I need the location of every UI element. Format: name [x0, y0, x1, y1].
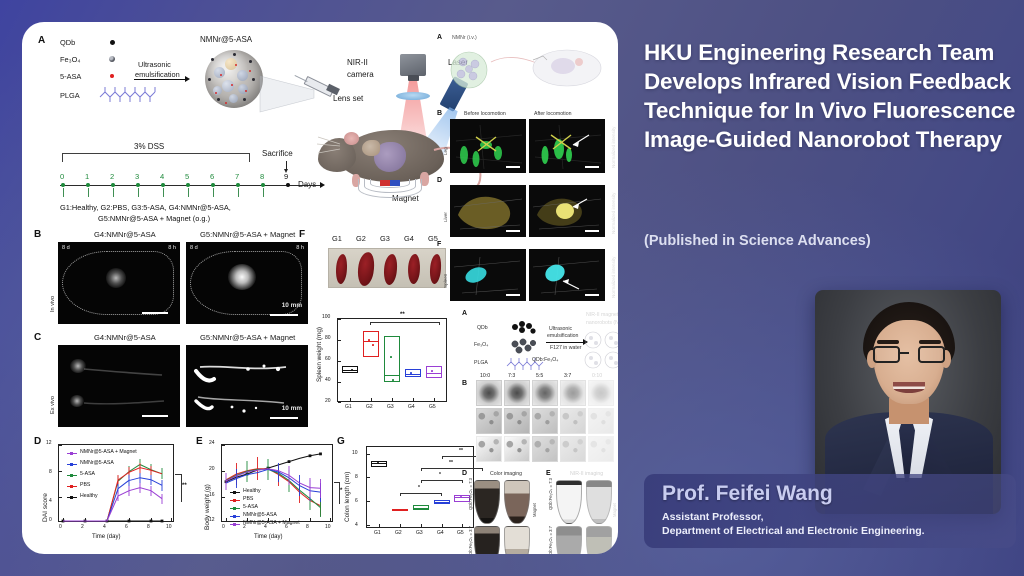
inset-top-d-letter: D: [437, 177, 442, 184]
panel-g-xtick-g2: G2: [395, 530, 402, 536]
panel-f-xtick-g4: G4: [408, 404, 415, 410]
panel-g-ytick-4: 4: [355, 522, 358, 528]
professor-role-line2: Department of Electrical and Electronic …: [662, 524, 925, 538]
timeline-label-7: 7: [235, 172, 239, 181]
timeline-groups-line1: G1:Healthy, G2:PBS, G3:5-ASA, G4:NMNr@5-…: [60, 203, 231, 212]
timeline-node-8: [261, 183, 265, 187]
camera-label-line2: camera: [347, 70, 374, 79]
sacrifice-arrow-icon: [286, 161, 287, 169]
panel-c-left-title: G4:NMNr@5-ASA: [94, 333, 156, 342]
timeline-label-3: 3: [135, 172, 139, 181]
inset-bottom-nanorobot-icons: [584, 330, 618, 372]
panel-d-series: [59, 445, 175, 523]
panel-b-row-label: In vivo: [50, 296, 56, 312]
hrtem-3-7: [560, 436, 586, 462]
tem-3-7: [560, 380, 586, 406]
mouse-whiskers: [316, 134, 344, 160]
timeline-label-5: 5: [185, 172, 189, 181]
timeline-axis-label: Days: [298, 180, 316, 189]
panel-f-letter: F: [299, 229, 305, 240]
inset-bottom-a-proc1: Ultrasonic: [549, 326, 572, 332]
poster-canvas: A QDb Fe₃O₄ 5-ASA PLGA Ultrasonic emulsi…: [0, 0, 1024, 576]
panel-f-significance: **: [400, 312, 405, 318]
panel-d-xtick-0: 0: [59, 524, 62, 530]
panel-g-ytick-8: 8: [355, 474, 358, 480]
timeline-node-9: [286, 183, 290, 187]
timeline-label-8: 8: [260, 172, 264, 181]
panel-b-letter: B: [34, 229, 41, 240]
panel-b-image-g4: 8 d 8 h: [58, 242, 180, 324]
inset-bottom-d-title: Color imaging: [490, 471, 522, 477]
inset-top-b-row-label: Leg: [443, 147, 448, 155]
panel-d-xtick-8: 8: [147, 524, 150, 530]
publication-note: (Published in Science Advances): [644, 233, 1016, 249]
nir-tube-37-0: [556, 526, 582, 554]
professor-role: Assistant Professor, Department of Elect…: [662, 510, 925, 538]
dss-label: 3% DSS: [134, 142, 164, 151]
nir-tube-37-1: [586, 526, 612, 554]
inset-bottom-a-plga: PLGA: [474, 360, 488, 366]
panel-f-sig-bracket: [370, 322, 440, 325]
panel-e-legend-4: NMNr@5-ASA + Magnet: [243, 520, 300, 526]
panel-d-ylabel: DAI score: [42, 493, 49, 522]
panel-e-significance: *: [340, 488, 342, 494]
inset-top-f-yaxis: Normalized intensity: [611, 257, 616, 298]
panel-e-xtick-6: 6: [285, 524, 288, 530]
timeline-node-7: [236, 183, 240, 187]
lens-set-icon: [396, 92, 430, 100]
panel-c-scale-label: 10 mm: [282, 405, 302, 412]
color-tube-73-0: [474, 480, 500, 524]
panel-e-ytick-16: 16: [209, 492, 215, 498]
panel-b-g5-scalebar: [270, 314, 298, 316]
sem-7-3: [504, 408, 530, 434]
panel-b-g4-scalebar: [142, 312, 168, 314]
panel-d-significance: **: [182, 483, 187, 489]
name-card: Prof. Feifei Wang Assistant Professor, D…: [644, 474, 1016, 548]
panel-g-xtick-g4: G4: [437, 530, 444, 536]
process-label-line1: Ultrasonic: [138, 60, 171, 69]
panel-b-left-title: G4:NMNr@5-ASA: [94, 230, 156, 239]
panel-d-xtick-2: 2: [81, 524, 84, 530]
ingredient-qdb-label: QDb: [60, 38, 75, 47]
inset-top-a-schematic: [447, 42, 612, 90]
lens-label: Lens set: [333, 94, 363, 103]
timeline-tick-1: [88, 188, 89, 197]
timeline-label-6: 6: [210, 172, 214, 181]
inset-bottom-e-title: NIR-II imaging: [570, 471, 603, 477]
timeline-label-2: 2: [110, 172, 114, 181]
inset-bottom-b-ratio-1: 7:3: [508, 373, 515, 379]
figure-card: A QDb Fe₃O₄ 5-ASA PLGA Ultrasonic emulsi…: [22, 22, 618, 554]
inset-top-f-letter: F: [437, 241, 441, 248]
timeline-node-5: [186, 183, 190, 187]
panel-g-sig-mark-4: **: [459, 448, 463, 454]
inset-bottom-qdb-cluster-icon: [509, 319, 539, 335]
panel-g-ytick-10: 10: [352, 450, 358, 456]
magnetic-field-arc-3: [358, 179, 422, 198]
panel-e-xtick-10: 10: [325, 524, 331, 530]
ingredient-fe3o4-label: Fe₃O₄: [60, 55, 80, 64]
panel-g-sig-mark-2: *: [439, 472, 441, 478]
panel-f-xtick-g2: G2: [366, 404, 373, 410]
panel-f-ytick-100: 100: [322, 314, 330, 320]
process-arrow-head-icon: [185, 76, 190, 82]
inset-top-d-image-0h: 0 h: [450, 185, 526, 237]
inset-bottom-d-letter: D: [462, 470, 467, 477]
inset-bottom-e-magnet: Magnet: [612, 503, 617, 517]
glasses-bridge-icon: [900, 352, 909, 354]
panel-e-legend-2: 5-ASA: [243, 504, 258, 510]
panel-d-plot: NMNr@5-ASA + Magnet NMNr@5-ASA 5-ASA PBS…: [58, 444, 174, 522]
timeline-tick-6: [213, 188, 214, 197]
panel-f-photo-g1: G1: [332, 234, 342, 243]
tem-5-5: [532, 380, 558, 406]
panel-d-xlabel: Time (day): [92, 534, 120, 540]
timeline-node-6: [211, 183, 215, 187]
inset-bottom-a-prod2: nanorobots (NMNr): [586, 320, 618, 326]
panel-f-plot: [337, 318, 447, 402]
panel-b-g4-hour-tag: 8 h: [168, 245, 176, 251]
timeline-tick-5: [188, 188, 189, 197]
nir-tube-73-1: [586, 480, 612, 524]
panel-f-photo-g3: G3: [380, 234, 390, 243]
panel-d-ytick-0: 0: [49, 517, 52, 523]
inset-bottom-b-title: QDb:Fe₃O₄: [532, 357, 558, 363]
hrtem-7-3: [504, 436, 530, 462]
panel-d-ytick-4: 4: [49, 498, 52, 504]
panel-b-image-g5: 8 d 8 h 10 mm: [186, 242, 308, 324]
process-arrow: [134, 79, 186, 80]
panel-a-letter: A: [38, 35, 45, 46]
professor-role-line1: Assistant Professor,: [662, 510, 925, 524]
dss-bracket: [62, 153, 250, 162]
panel-e-letter: E: [196, 436, 203, 447]
hrtem-5-5: [532, 436, 558, 462]
panel-c-g5-scalebar: [270, 417, 298, 419]
panel-d-xtick-4: 4: [103, 524, 106, 530]
nanorobot-sphere: [205, 50, 263, 108]
inset-top-b-image-before: 0 s: [450, 119, 526, 173]
panel-e-plot: Healthy PBS 5-ASA NMNr@5-ASA NMNr@5-ASA …: [221, 444, 333, 522]
panel-d-letter: D: [34, 436, 41, 447]
panel-e-xlabel: Time (day): [254, 534, 282, 540]
inset-top-b-col2: After locomotion: [534, 111, 571, 117]
inset-bottom-fe3o4-cluster-icon: [509, 338, 539, 356]
panel-f-ytick-80: 80: [325, 335, 331, 341]
inset-top-f-image-1h: 1 h Magnet position 10 mm: [529, 249, 605, 301]
panel-b-g4-day-tag: 8 d: [62, 245, 70, 251]
panel-d-ytick-8: 8: [49, 469, 52, 475]
panel-e-xtick-8: 8: [306, 524, 309, 530]
panel-b-right-title: G5:NMNr@5-ASA + Magnet: [200, 230, 295, 239]
inset-top-b-col1: Before locomotion: [464, 111, 506, 117]
panel-d-xtick-10: 10: [166, 524, 172, 530]
inset-bottom-a-qdb: QDb: [477, 325, 488, 331]
hrtem-0-10: [588, 436, 614, 462]
inset-bottom-d-row1: QDb:Fe₃O₄ = 7:3: [468, 478, 473, 510]
panel-c-g4-scalebar: [142, 415, 168, 417]
sem-5-5: [532, 408, 558, 434]
panel-d-legend-1: NMNr@5-ASA: [80, 460, 114, 466]
panel-e-ytick-12: 12: [209, 517, 215, 523]
sem-0-10: [588, 408, 614, 434]
inset-top-f-image-0h: 0 h: [450, 249, 526, 301]
panel-b-scale-label: 10 mm: [282, 302, 302, 309]
portrait-brow-left: [877, 340, 899, 344]
portrait-smile: [893, 382, 925, 393]
tem-0-10: [588, 380, 614, 406]
inset-bottom-e-row1: QDb:Fe₃O₄ = 7:3: [548, 478, 553, 510]
panel-d-xtick-6: 6: [125, 524, 128, 530]
inset-bottom-a-proc2: emulsification: [547, 333, 578, 339]
panel-c-row-label: Ex vivo: [50, 396, 56, 414]
timeline-node-0: [61, 183, 65, 187]
inset-top-b-letter: B: [437, 110, 442, 117]
mouse-liver: [362, 140, 380, 156]
inset-top-a-caption: NMNr (i.v.): [452, 35, 477, 41]
panel-f-spleen-photo: [328, 248, 446, 288]
panel-g-sig-1: [400, 493, 442, 496]
panel-c-right-title: G5:NMNr@5-ASA + Magnet: [200, 333, 295, 342]
timeline-label-4: 4: [160, 172, 164, 181]
inset-bottom-e-row2: QDb:Fe₃O₄ = 3:7: [548, 526, 553, 554]
panel-d-legend-2: 5-ASA: [80, 471, 95, 477]
nir-camera-icon: [400, 54, 426, 76]
glasses-icon-right: [918, 346, 945, 363]
panel-g-sig-3: [421, 468, 483, 471]
timeline-label-9: 9: [284, 172, 288, 181]
panel-f-photo-g2: G2: [356, 234, 366, 243]
panel-g-sig-mark-1: *: [418, 485, 420, 491]
timeline-tick-4: [163, 188, 164, 197]
tem-7-3: [504, 380, 530, 406]
timeline-groups-line2: G5:NMNr@5-ASA + Magnet (o.g.): [98, 214, 210, 223]
panel-d-legend-3: PBS: [80, 482, 90, 488]
panel-f-ytick-60: 60: [325, 356, 331, 362]
inset-bottom-arrow: [546, 342, 584, 343]
timeline-arrow-head-icon: [320, 182, 325, 188]
timeline-node-1: [86, 183, 90, 187]
timeline-label-1: 1: [85, 172, 89, 181]
timeline-node-2: [111, 183, 115, 187]
panel-e-xtick-2: 2: [243, 524, 246, 530]
timeline-tick-2: [113, 188, 114, 197]
color-tube-37-0: [474, 526, 500, 554]
timeline-node-4: [161, 183, 165, 187]
inset-bottom-a-prod1: NIR-II magnetic: [586, 312, 618, 318]
panel-f-ylabel: Spleen weight (mg): [316, 327, 323, 382]
inset-bottom-b-ratio-2: 5:5: [536, 373, 543, 379]
timeline-tick-3: [138, 188, 139, 197]
panel-c-image-g5: 10 mm: [186, 345, 308, 427]
panel-f-xtick-g1: G1: [345, 404, 352, 410]
inset-top-d-yaxis: Normalized intensity: [611, 193, 616, 234]
ingredient-plga-label: PLGA: [60, 91, 80, 100]
glasses-icon-left: [873, 346, 900, 363]
panel-g-plot: * * ** **: [366, 446, 474, 528]
panel-g-xtick-g1: G1: [374, 530, 381, 536]
timeline-axis: [60, 185, 322, 186]
inset-bottom-a-proc3: F127 in water: [550, 345, 581, 351]
inset-bottom-d-magnet: Magnet: [532, 503, 537, 517]
panel-e-xtick-4: 4: [264, 524, 267, 530]
inset-top-d-image-1h: 1 h Magnet position: [529, 185, 605, 237]
inset-top-f-row-label: Spleen: [443, 274, 448, 288]
panel-e-ytick-24: 24: [209, 440, 215, 446]
inset-bottom-d-row2: QDb:Fe₃O₄ = 3:7: [468, 526, 473, 554]
asa-dot-icon: [110, 74, 114, 78]
panel-b-g5-hour-tag: 8 h: [296, 245, 304, 251]
panel-e-xtick-0: 0: [222, 524, 225, 530]
ingredient-5asa-label: 5-ASA: [60, 72, 81, 81]
panel-c-image-g4: [58, 345, 180, 427]
qdb-dot-icon: [110, 40, 115, 45]
panel-f-box-g2: [363, 331, 379, 357]
panel-c-letter: C: [34, 332, 41, 343]
color-tube-73-1: [504, 480, 530, 524]
mouse-ear: [344, 132, 359, 145]
panel-e-legend-1: PBS: [243, 496, 253, 502]
color-tube-37-1: [504, 526, 530, 554]
inset-bottom-b-ratio-3: 3:7: [564, 373, 571, 379]
panel-d-legend-0: NMNr@5-ASA + Magnet: [80, 449, 137, 455]
hrtem-10-0: [476, 436, 502, 462]
timeline-tick-0: [63, 188, 64, 197]
professor-name: Prof. Feifei Wang: [662, 482, 833, 506]
panel-b-g5-day-tag: 8 d: [190, 245, 198, 251]
portrait-brow-right: [919, 340, 941, 344]
panel-f-ytick-40: 40: [325, 377, 331, 383]
inset-top-a-letter: A: [437, 34, 442, 41]
panel-e-series: [222, 445, 334, 523]
panel-f-photo-g4: G4: [404, 234, 414, 243]
panel-g-xtick-g5: G5: [457, 530, 464, 536]
panel-g-xtick-g3: G3: [416, 530, 423, 536]
product-label: NMNr@5-ASA: [200, 35, 252, 44]
panel-d-legend-4: Healthy: [80, 493, 98, 499]
inset-top-b-image-after: 30 s Magnet position: [529, 119, 605, 173]
sacrifice-label: Sacrifice: [262, 149, 293, 158]
panel-d-sig-bracket: [175, 474, 182, 502]
inset-bottom-b-ratio-0: 10:0: [480, 373, 490, 379]
panel-e-legend-3: NMNr@5-ASA: [243, 512, 277, 518]
inset-top-b-yaxis: Normalized intensity: [611, 127, 616, 168]
inset-bottom-a-letter: A: [462, 310, 467, 317]
timeline-tick-8: [263, 188, 264, 197]
panel-e-ytick-20: 20: [209, 466, 215, 472]
timeline-tick-7: [238, 188, 239, 197]
panel-g-sig-mark-3: **: [449, 460, 453, 466]
inset-bottom-b-ratio-4: 0:10: [592, 373, 602, 379]
inset-bottom-b-letter: B: [462, 380, 467, 387]
process-label-line2: emulsification: [135, 70, 180, 79]
panel-f-xtick-g5: G5: [429, 404, 436, 410]
panel-f-ytick-20: 20: [325, 398, 331, 404]
camera-lens-icon: [408, 75, 419, 81]
tem-10-0: [476, 380, 502, 406]
timeline-label-0: 0: [60, 172, 64, 181]
camera-label-line1: NIR-II: [347, 58, 368, 67]
panel-g-sig-2: [421, 480, 463, 483]
fe3o4-dot-icon: [109, 56, 115, 62]
inset-bottom-e-letter: E: [546, 470, 551, 477]
panel-g-letter: G: [337, 436, 345, 447]
timeline-node-3: [136, 183, 140, 187]
panel-e-legend-0: Healthy: [243, 488, 261, 494]
panel-g-ylabel: Colon length (cm): [344, 472, 351, 522]
panel-g-ytick-6: 6: [355, 498, 358, 504]
panel-f-xtick-g3: G3: [387, 404, 394, 410]
panel-d-ytick-12: 12: [46, 440, 52, 446]
plga-molecule-icon: [98, 84, 160, 104]
inset-bottom-a-fe3o4: Fe₃O₄: [474, 342, 488, 348]
inset-top-d-row-label: Liver: [443, 212, 448, 222]
nir-tube-73-0: [556, 480, 582, 524]
page-title: HKU Engineering Research Team Develops I…: [644, 38, 1016, 154]
sem-10-0: [476, 408, 502, 434]
sem-3-7: [560, 408, 586, 434]
